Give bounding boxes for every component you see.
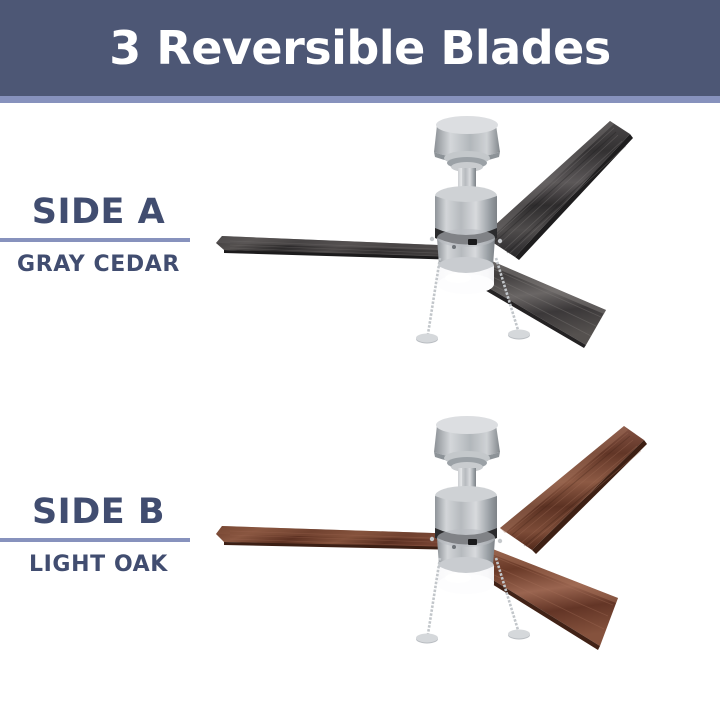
page-title: 3 Reversible Blades [109,25,610,71]
fan-illustration-side-a [200,108,720,408]
header-banner: 3 Reversible Blades [0,0,720,96]
fan-blade-left-a [216,236,463,260]
fan-motor-housing-a [430,116,502,272]
fan-blade-upper-right-a [483,121,633,260]
finish-label-a: GRAY CEDAR [0,253,215,277]
section-side-b: SIDE B LIGHT OAK [0,408,720,708]
section-side-a: SIDE A GRAY CEDAR [0,108,720,408]
fan-motor-housing-b [430,416,502,572]
side-label-a: SIDE A [0,194,215,231]
finish-label-b: LIGHT OAK [0,553,215,577]
fan-light-kit-b [438,557,494,594]
fan-blade-left-b [216,526,463,550]
fan-light-kit-a [438,257,494,294]
label-divider-a [0,238,190,242]
fan-blade-lower-right-b [479,548,618,650]
label-divider-b [0,538,190,542]
fan-illustration-side-b [200,408,720,708]
fan-blade-upper-right-b [500,426,647,554]
header-accent-strip [0,96,720,103]
side-label-b: SIDE B [0,494,215,531]
product-infographic: 3 Reversible Blades SIDE A GRAY CEDAR [0,0,720,720]
label-block-side-a: SIDE A GRAY CEDAR [0,194,215,277]
label-block-side-b: SIDE B LIGHT OAK [0,494,215,577]
